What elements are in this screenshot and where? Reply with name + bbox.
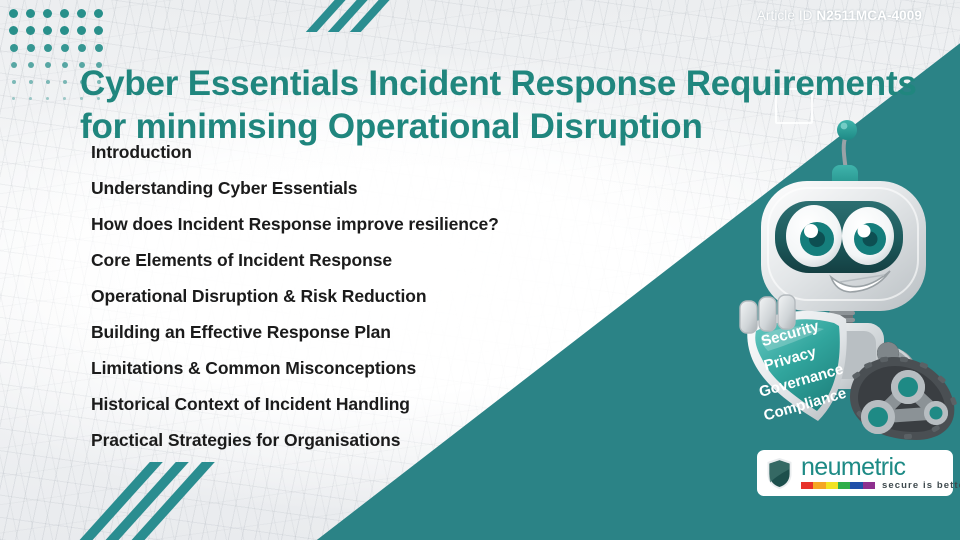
list-item[interactable]: Practical Strategies for Organisations [91, 423, 651, 459]
robot-mascot-icon: Security Privacy Governance Compliance [718, 105, 960, 440]
list-item[interactable]: Historical Context of Incident Handling [91, 387, 651, 423]
agenda-item-label: Understanding Cyber Essentials [91, 180, 357, 198]
list-item[interactable]: Limitations & Common Misconceptions [91, 351, 651, 387]
shield-icon [766, 457, 793, 490]
list-item[interactable]: Understanding Cyber Essentials [91, 171, 651, 207]
list-item[interactable]: Building an Effective Response Plan [91, 315, 651, 351]
agenda-list: Introduction Understanding Cyber Essenti… [91, 135, 651, 459]
agenda-item-label: Building an Effective Response Plan [91, 324, 391, 342]
logo-color-bar [801, 482, 875, 489]
agenda-item-label: How does Incident Response improve resil… [91, 216, 499, 234]
agenda-item-label: Practical Strategies for Organisations [91, 432, 400, 450]
agenda-item-label: Core Elements of Incident Response [91, 252, 392, 270]
diagonal-stripes-top [322, 0, 377, 32]
article-id-label: Article ID [757, 8, 813, 23]
logo-tagline: secure is better [882, 480, 960, 491]
agenda-item-label: Introduction [91, 144, 192, 162]
logo-subrow: secure is better [801, 480, 960, 491]
logo-wordmark: neumetric [801, 455, 960, 479]
list-item[interactable]: Operational Disruption & Risk Reduction [91, 279, 651, 315]
article-id-value: N2511MCA-4009 [816, 8, 922, 23]
list-item[interactable]: How does Incident Response improve resil… [91, 207, 651, 243]
article-id: Article ID N2511MCA-4009 [757, 8, 922, 23]
agenda-item-label: Operational Disruption & Risk Reduction [91, 288, 426, 306]
list-item[interactable]: Core Elements of Incident Response [91, 243, 651, 279]
presentation-slide: Article ID N2511MCA-4009 Cyber Essential… [0, 0, 960, 540]
agenda-item-label: Historical Context of Incident Handling [91, 396, 410, 414]
title-line-1: Cyber Essentials Incident Response Requi… [80, 64, 917, 103]
agenda-item-label: Limitations & Common Misconceptions [91, 360, 416, 378]
neumetric-logo[interactable]: neumetric secure is better [757, 450, 953, 496]
list-item[interactable]: Introduction [91, 135, 651, 171]
diagonal-stripes-bottom [112, 462, 177, 540]
